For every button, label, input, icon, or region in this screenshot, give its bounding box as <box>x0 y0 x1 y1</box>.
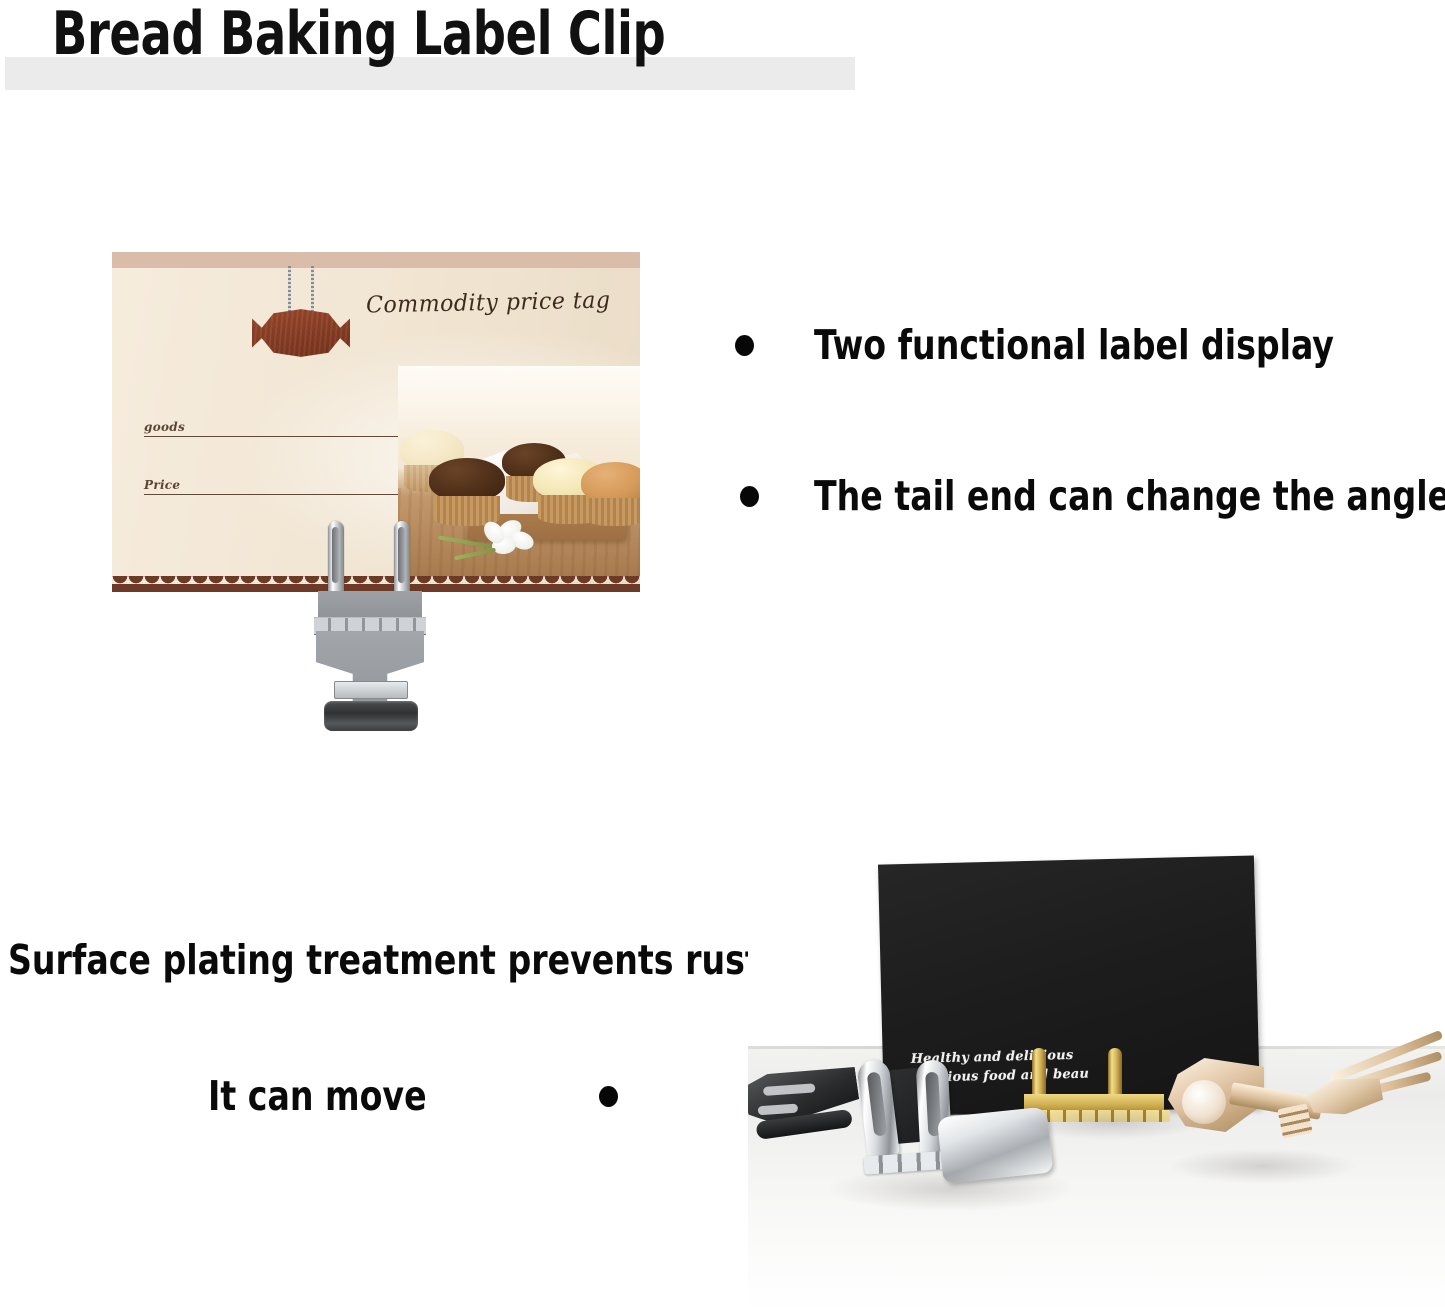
price-field: Price <box>144 478 402 495</box>
rose-gold-clip-hinge <box>1277 1103 1313 1139</box>
gold-clip-prong-right <box>1108 1048 1122 1100</box>
clip-prong-left <box>328 521 344 597</box>
plaque-chain-right-icon <box>311 266 314 311</box>
silver-clip-roll-base <box>937 1106 1053 1183</box>
feature-two-functional-label-display: Two functional label display <box>735 322 1392 368</box>
bullet-point-icon <box>740 486 759 507</box>
goods-field: goods <box>144 420 402 437</box>
page-title: Bread Baking Label Clip <box>52 2 665 66</box>
goods-field-line <box>144 436 402 437</box>
feature-label: It can move <box>208 1073 427 1119</box>
price-field-line <box>144 494 402 495</box>
plaque-chain-left-icon <box>288 266 291 311</box>
chalkboard-clips-photo: Healthy and delicious delicious food and… <box>748 848 1445 1312</box>
clip-foot <box>334 681 408 699</box>
rose-gold-clip-ring <box>1182 1080 1226 1124</box>
orchid-flower <box>484 520 536 560</box>
bullet-point-icon <box>599 1086 618 1107</box>
clip-roll-base <box>324 701 418 731</box>
price-field-label: Price <box>144 478 402 492</box>
cupcake <box>434 464 500 526</box>
clip-prong-right <box>394 521 410 597</box>
feature-it-can-move: It can move <box>208 1073 618 1119</box>
label-clip-silver-top <box>306 521 434 736</box>
feature-tail-end-change-angle: The tail end can change the angle <box>740 473 1445 519</box>
cupcake <box>586 468 640 526</box>
feature-label: Two functional label display <box>814 322 1334 368</box>
cupcakes-photo <box>398 366 640 576</box>
feature-label: Surface plating treatment prevents rust <box>8 937 761 983</box>
feature-label: The tail end can change the angle <box>814 473 1445 519</box>
label-clip-rose-gold-far <box>1326 1042 1445 1128</box>
commodity-price-tag-heading: Commodity price tag <box>366 287 611 318</box>
goods-field-label: goods <box>144 420 402 434</box>
label-clip-silver <box>848 1060 1058 1188</box>
bullet-point-icon <box>735 335 754 356</box>
